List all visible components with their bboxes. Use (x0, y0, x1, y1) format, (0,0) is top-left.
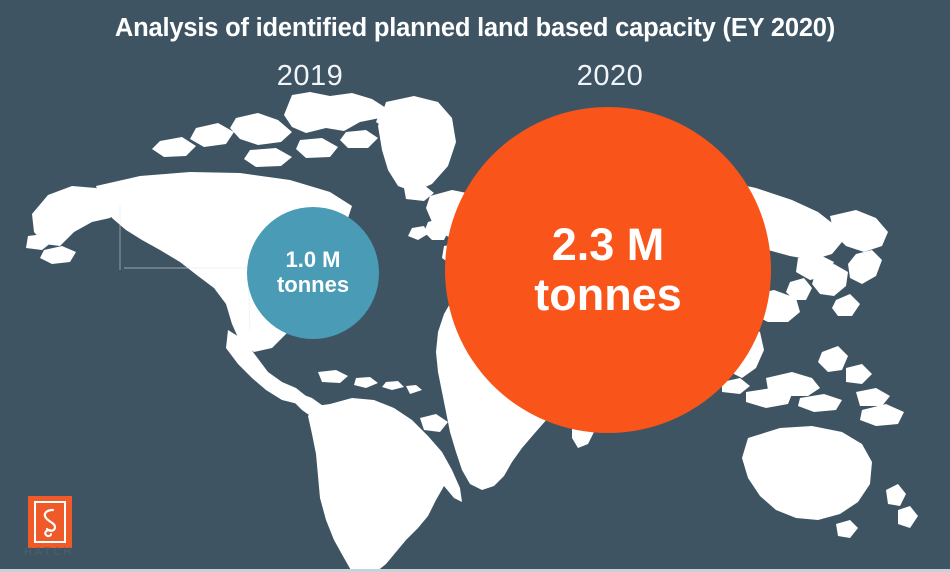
bubble-2020-label: 2.3 M tonnes (528, 220, 688, 321)
bubble-2019-value: 1.0 M (277, 248, 349, 273)
bubble-2020-value: 2.3 M (534, 220, 682, 270)
page-title: Analysis of identified planned land base… (0, 14, 950, 43)
year-label-2019: 2019 (245, 60, 375, 93)
bubble-2019: 1.0 M tonnes (247, 207, 379, 339)
bubble-2019-label: 1.0 M tonnes (271, 248, 355, 297)
bubble-2019-unit: tonnes (277, 273, 349, 298)
brand-logo (28, 496, 72, 548)
bubble-2020: 2.3 M tonnes (445, 107, 771, 433)
year-label-2020: 2020 (545, 60, 675, 93)
brand-wordmark: HATCH (24, 546, 74, 558)
bubble-2020-unit: tonnes (534, 270, 682, 320)
infographic-canvas: Analysis of identified planned land base… (0, 0, 950, 572)
hatch-monogram-icon (28, 496, 72, 548)
